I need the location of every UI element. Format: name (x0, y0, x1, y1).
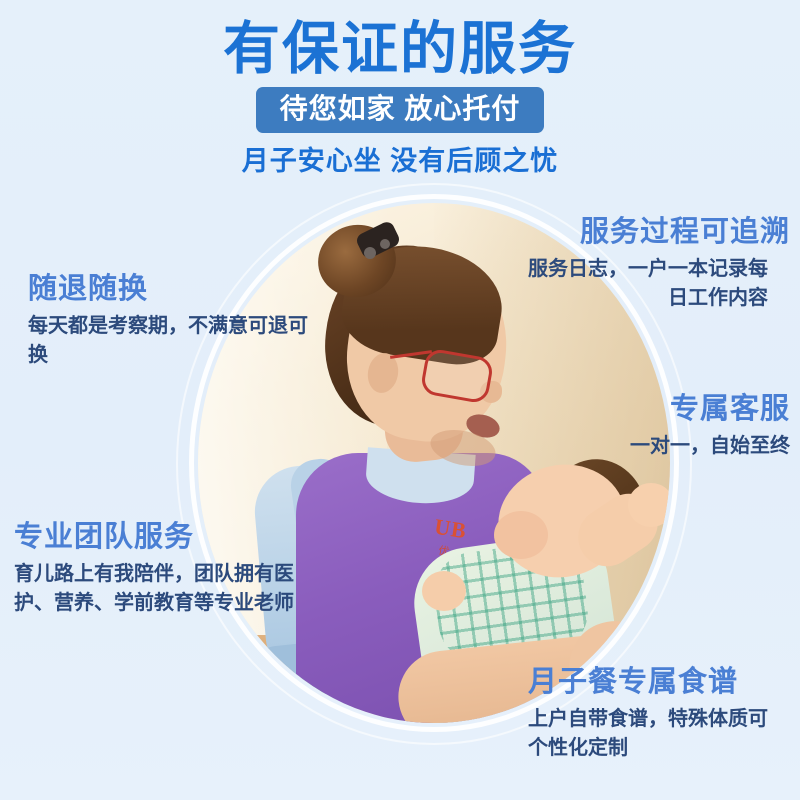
header: 有保证的服务 待您如家 放心托付 月子安心坐 没有后顾之忧 (0, 0, 800, 176)
feature-return-exchange: 随退随换 每天都是考察期，不满意可退可换 (28, 272, 328, 370)
feature-body: 上户自带食谱，特殊体质可个性化定制 (528, 705, 778, 763)
hair-clip-detail (380, 239, 390, 249)
feature-body: 一对一，自始至终 (598, 432, 790, 461)
tagline-badge: 待您如家 放心托付 (256, 87, 545, 133)
feature-professional-team: 专业团队服务 育儿路上有我陪伴，团队拥有医护、营养、学前教育等专业老师 (14, 520, 314, 618)
baby-cheek (494, 511, 548, 559)
feature-body: 育儿路上有我陪伴，团队拥有医护、营养、学前教育等专业老师 (14, 560, 310, 618)
feature-title: 服务过程可追溯 (518, 215, 790, 249)
baby-hand (628, 483, 670, 527)
baby-hand (422, 571, 466, 611)
badge-row: 待您如家 放心托付 (0, 87, 800, 133)
feature-title: 月子餐专属食谱 (528, 665, 790, 699)
feature-service-traceable: 服务过程可追溯 服务日志，一户一本记录每日工作内容 (518, 215, 790, 313)
hair-clip-detail (364, 247, 376, 259)
feature-dedicated-support: 专属客服 一对一，自始至终 (598, 392, 790, 461)
feature-body: 每天都是考察期，不满意可退可换 (28, 312, 318, 370)
feature-title: 随退随换 (28, 272, 328, 306)
poster-root: 有保证的服务 待您如家 放心托付 月子安心坐 没有后顾之忧 (0, 0, 800, 800)
page-title: 有保证的服务 (0, 0, 800, 80)
feature-body: 服务日志，一户一本记录每日工作内容 (518, 255, 768, 313)
feature-title: 专业团队服务 (14, 520, 314, 554)
feature-postpartum-menu: 月子餐专属食谱 上户自带食谱，特殊体质可个性化定制 (528, 665, 790, 763)
feature-title: 专属客服 (598, 392, 790, 426)
subtitle: 月子安心坐 没有后顾之忧 (0, 146, 800, 176)
